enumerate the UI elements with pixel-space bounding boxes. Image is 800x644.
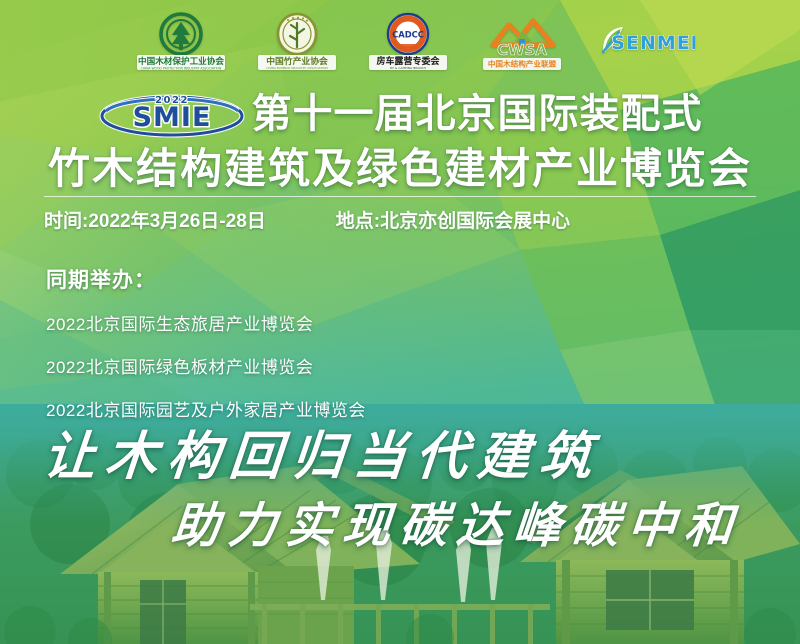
slogan-line-1: 让木构回归当代建筑: [41, 414, 606, 489]
event-meta: 时间:2022年3月26日-28日 地点:北京亦创国际会展中心: [44, 206, 570, 233]
svg-text:SENMEI: SENMEI: [611, 32, 695, 54]
logo-senmei[interactable]: SENMEI: [595, 20, 695, 64]
svg-text:CWSA: CWSA: [497, 41, 547, 59]
svg-text:SMIE: SMIE: [132, 102, 211, 133]
svg-text:RV & CAMPING BRANCH: RV & CAMPING BRANCH: [390, 66, 426, 70]
bamboo-seal-icon: [278, 14, 316, 54]
concurrent-events: 同期举办： 2022北京国际生态旅居产业博览会 2022北京国际绿色板材产业博览…: [46, 264, 366, 439]
slogan-line-2: 助力实现碳达峰碳中和: [169, 486, 745, 556]
title-divider: [44, 196, 756, 197]
title-line-1: 第十一届北京国际装配式: [252, 94, 703, 134]
svg-text:房车露营专委会: 房车露营专委会: [376, 55, 440, 67]
logo-cnwpia[interactable]: 中国木材保护工业协会 CHINA WOOD PROTECTION INDUSTR…: [135, 11, 227, 73]
logo-bamboo[interactable]: 中国竹产业协会 CHINA BAMBOO INDUSTRY ASSOCIATIO…: [257, 11, 337, 73]
logo-cwsa[interactable]: CWSA 中国木结构产业联盟: [479, 11, 565, 73]
concurrent-heading: 同期举办：: [46, 264, 366, 294]
tree-shield-icon: [161, 14, 201, 54]
smie-brand-logo: 2022 SMIE: [98, 89, 246, 139]
event-date: 时间:2022年3月26日-28日: [44, 206, 266, 233]
title-block: 2022 SMIE 第十一届北京国际装配式 竹木结构建筑及绿色建材产业博览会: [0, 88, 800, 190]
svg-text:CHINA BAMBOO INDUSTRY ASSOCIAT: CHINA BAMBOO INDUSTRY ASSOCIATION: [266, 66, 327, 70]
logo-cadcc[interactable]: CADCC 房车露营专委会 RV & CAMPING BRANCH: [367, 11, 449, 73]
svg-text:中国竹产业协会: 中国竹产业协会: [266, 55, 328, 67]
sponsor-logo-strip: 中国木材保护工业协会 CHINA WOOD PROTECTION INDUSTR…: [0, 0, 800, 84]
svg-text:中国木材保护工业协会: 中国木材保护工业协会: [138, 55, 224, 67]
event-venue: 地点:北京亦创国际会展中心: [336, 206, 570, 233]
svg-text:中国木结构产业联盟: 中国木结构产业联盟: [488, 58, 557, 68]
svg-text:CADCC: CADCC: [392, 30, 424, 40]
title-line-2: 竹木结构建筑及绿色建材产业博览会: [0, 148, 800, 190]
cadcc-badge-icon: CADCC: [388, 14, 428, 54]
expo-poster: 中国木材保护工业协会 CHINA WOOD PROTECTION INDUSTR…: [0, 0, 800, 644]
concurrent-item-1: 2022北京国际生态旅居产业博览会: [46, 310, 366, 335]
concurrent-item-2: 2022北京国际绿色板材产业博览会: [46, 353, 366, 378]
svg-text:CHINA WOOD PROTECTION INDUSTRY: CHINA WOOD PROTECTION INDUSTRY ASSOCIATI…: [141, 66, 222, 70]
